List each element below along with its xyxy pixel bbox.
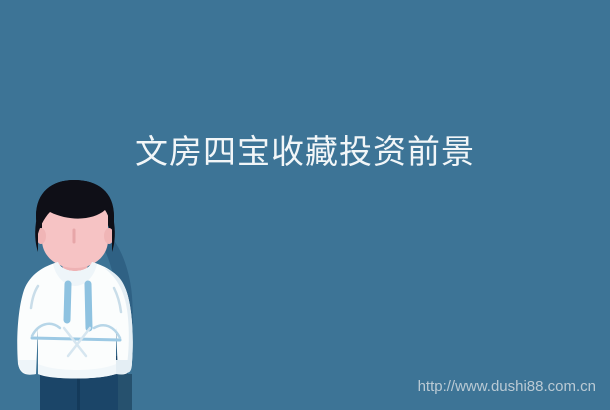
drawstring-left [67, 284, 68, 320]
page-title: 文房四宝收藏投资前景 [0, 131, 610, 173]
poster-canvas: 文房四宝收藏投资前景 http://www.dushi88.com.cn [0, 0, 610, 410]
person-illustration [8, 178, 148, 410]
watermark-url: http://www.dushi88.com.cn [418, 378, 596, 396]
hoodie [17, 262, 133, 379]
pocket-line [32, 338, 120, 340]
drawstring-right [88, 284, 89, 328]
